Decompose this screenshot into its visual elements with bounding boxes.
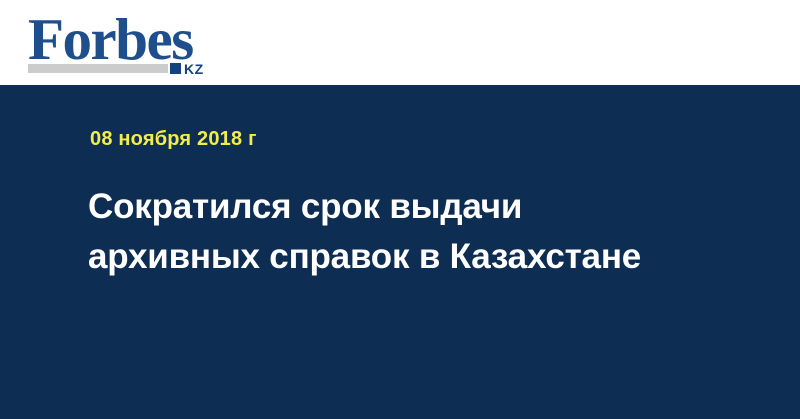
headline-line: архивных справок в Казахстане [88,232,748,282]
article-headline: Сократился срок выдачи архивных справок … [88,182,748,282]
logo-suffix: KZ [170,62,204,75]
forbes-kz-logo[interactable]: Forbes KZ [28,8,228,78]
logo-rule [28,64,168,73]
article-cover-card: Forbes KZ 08 ноября 2018 г Сократился ср… [0,0,800,419]
site-header: Forbes KZ [0,0,800,85]
publication-date: 08 ноября 2018 г [90,128,257,151]
headline-line: Сократился срок выдачи [88,182,748,232]
logo-suffix-label: KZ [184,62,204,76]
hero-panel: 08 ноября 2018 г Сократился срок выдачи … [0,85,800,419]
logo-wordmark: Forbes [28,8,193,70]
square-icon [170,63,181,74]
